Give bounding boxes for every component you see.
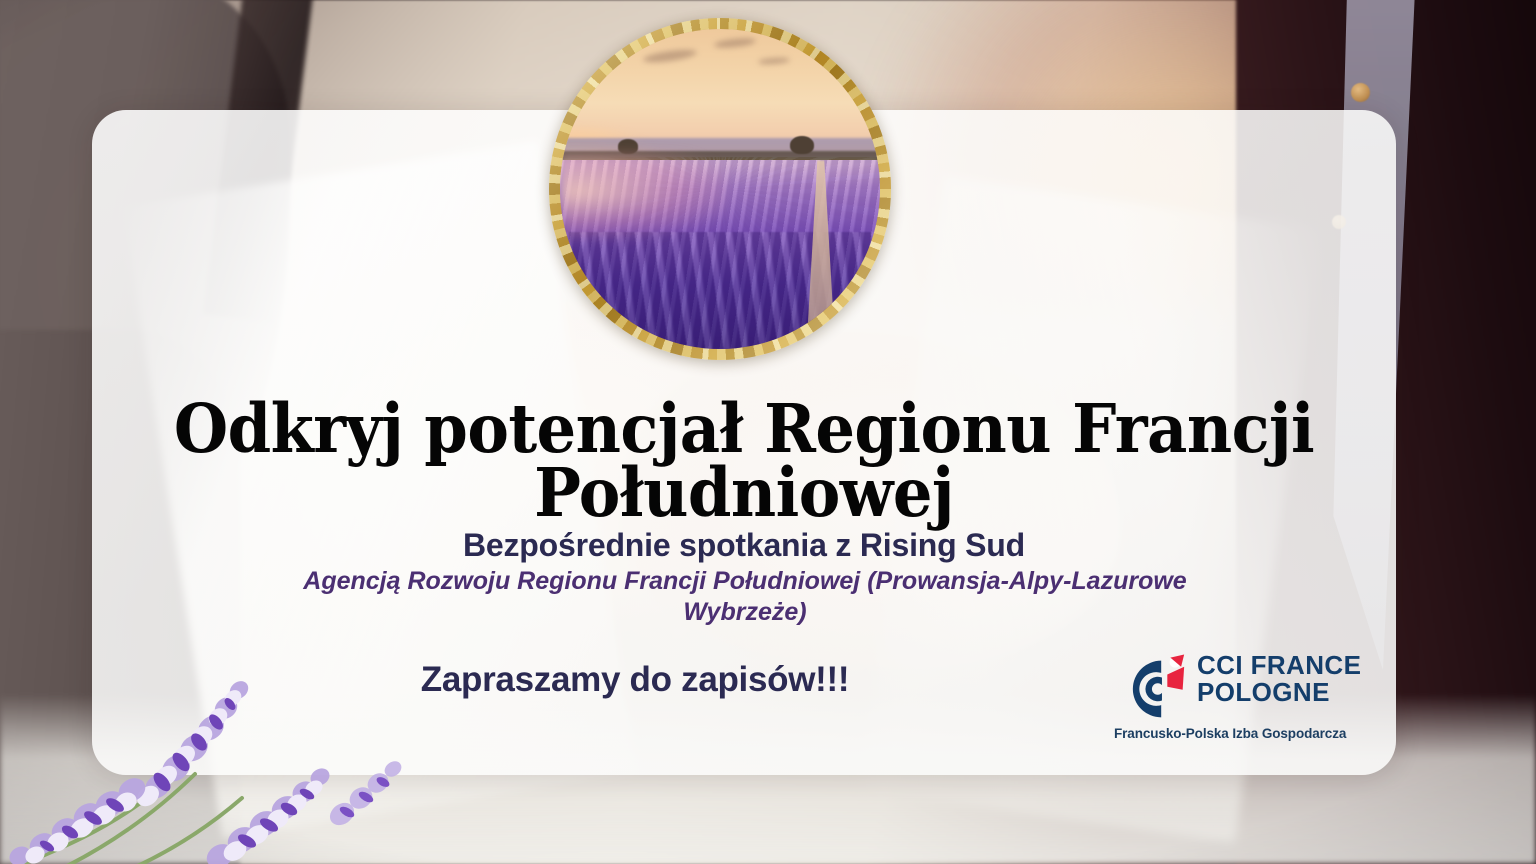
logo-word-line-2: POLOGNE: [1197, 679, 1361, 706]
title-line-2: Południowej: [138, 461, 1351, 525]
sunset-glow-left: [560, 151, 726, 241]
gold-ring-frame: [549, 18, 891, 360]
cci-circle-mark-icon: [1113, 653, 1191, 725]
logo-word-line-1: CCI FRANCE: [1197, 652, 1361, 679]
page-title: Odkryj potencjał Regionu Francji Południ…: [138, 397, 1351, 524]
agency-description: Agencją Rozwoju Regionu Francji Południo…: [240, 566, 1250, 627]
slide-canvas: Odkryj potencjał Regionu Francji Południ…: [0, 0, 1536, 864]
lavender-field-image: [560, 29, 880, 349]
tree-icon: [790, 136, 814, 154]
logo-wordmark: CCI FRANCE POLOGNE: [1197, 652, 1361, 706]
logo-tagline: Francusko-Polska Izba Gospodarcza: [1114, 726, 1346, 741]
call-to-action: Zapraszamy do zapisów!!!: [240, 660, 1030, 700]
cci-france-pologne-logo: CCI FRANCE POLOGNE Francusko-Polska Izba…: [1113, 650, 1368, 755]
subtitle: Bezpośrednie spotkania z Rising Sud: [92, 527, 1396, 564]
